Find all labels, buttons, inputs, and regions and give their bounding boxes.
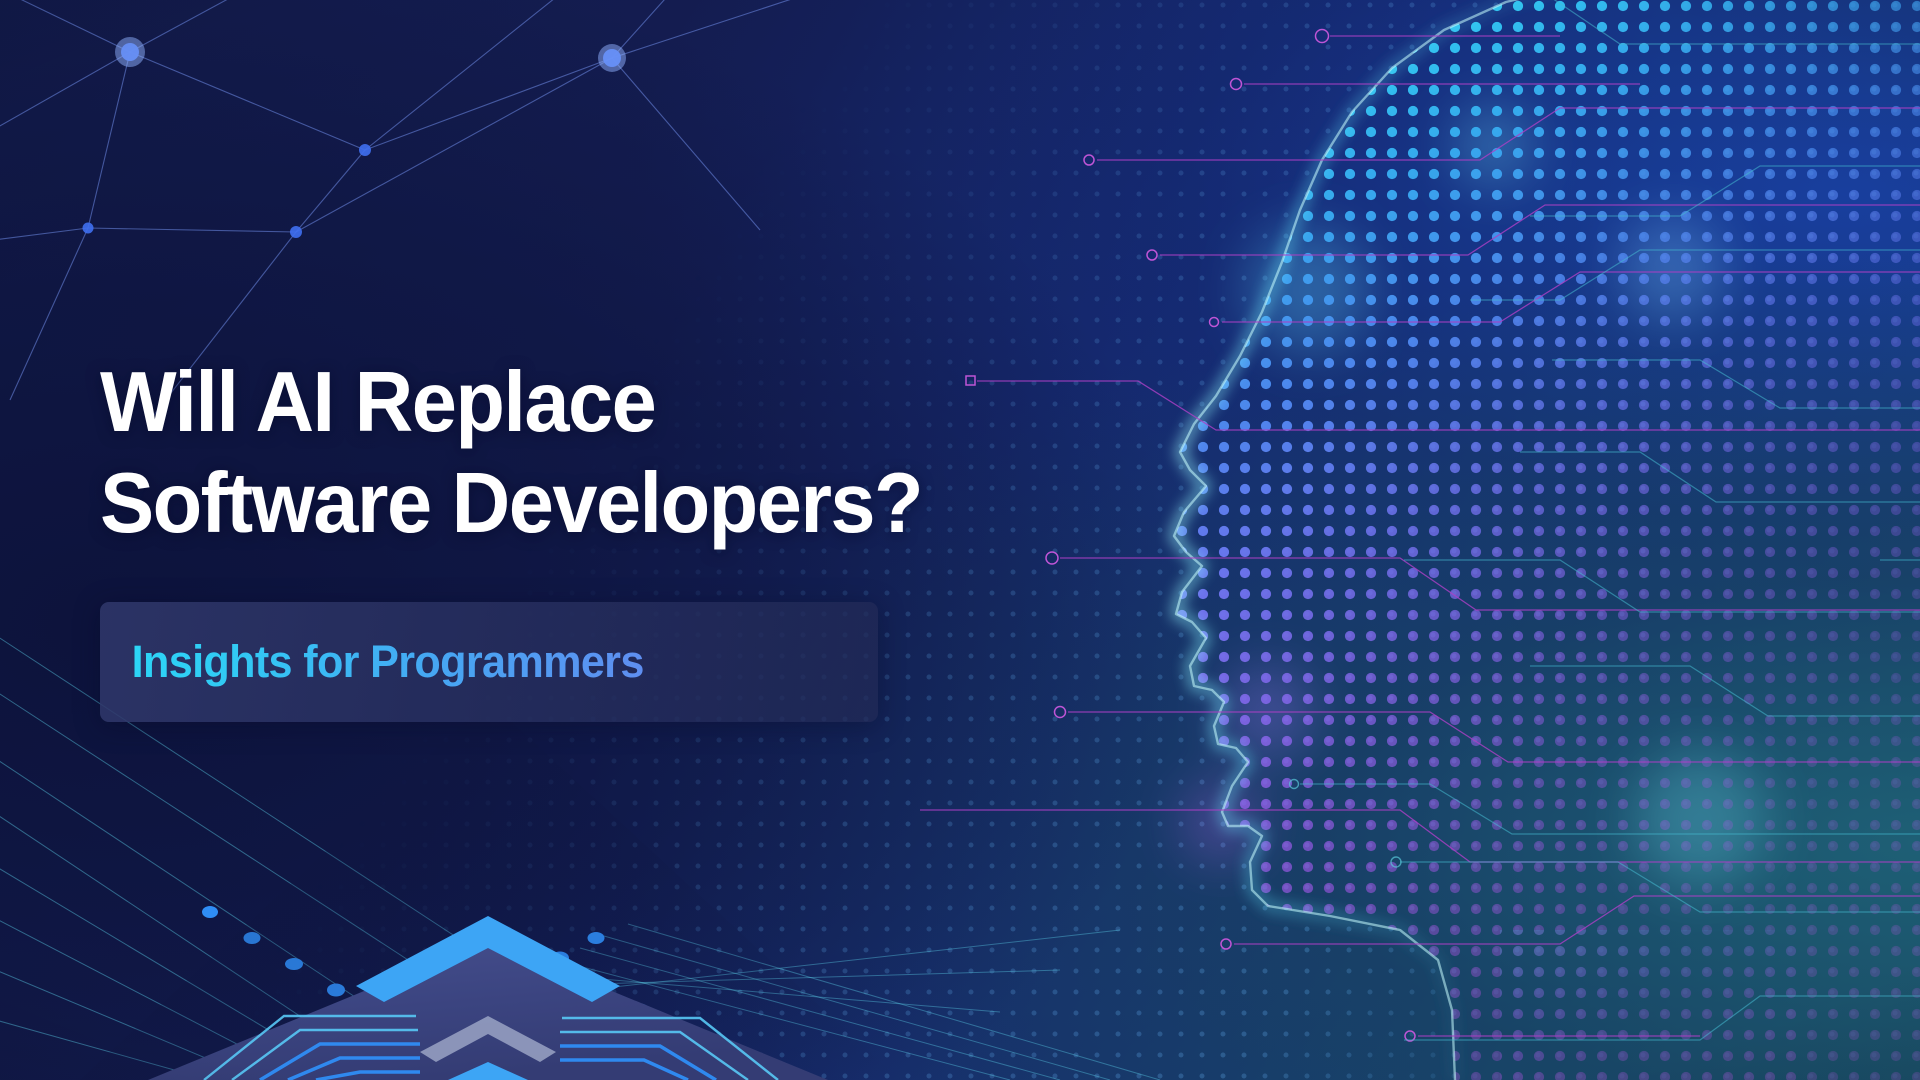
hero-banner: Will AI Replace Software Developers? Ins… xyxy=(0,0,1920,1080)
subtitle-badge-label: Insights for Programmers xyxy=(100,636,644,688)
page-title: Will AI Replace Software Developers? xyxy=(100,352,1112,554)
hero-text-block: Will AI Replace Software Developers? xyxy=(100,352,1160,554)
headline-line-1: Will AI Replace xyxy=(100,352,1112,453)
subtitle-badge: Insights for Programmers xyxy=(100,602,878,722)
headline-line-2: Software Developers? xyxy=(100,453,1112,554)
